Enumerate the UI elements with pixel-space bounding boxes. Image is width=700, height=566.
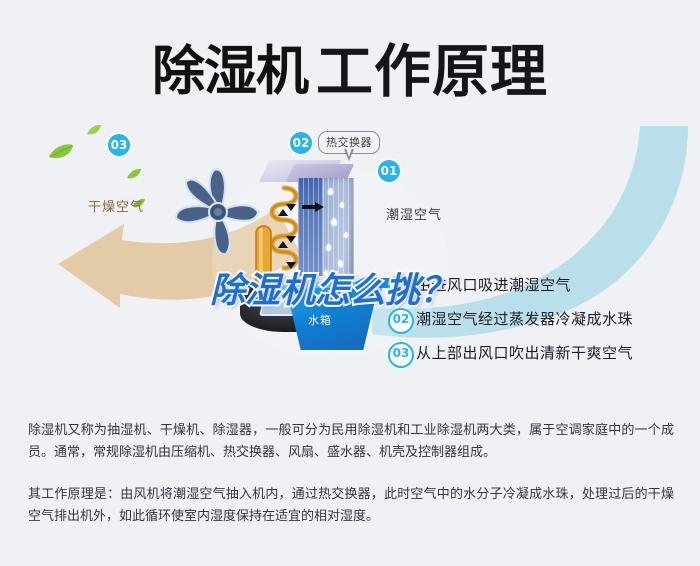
step-badge: 03 bbox=[388, 342, 414, 368]
water-droplet bbox=[331, 218, 337, 226]
page-title-part-2: 工作原理 bbox=[316, 39, 548, 105]
leaf-icon bbox=[86, 124, 102, 137]
page-title-part-1: 除湿机 bbox=[152, 42, 308, 101]
water-droplet bbox=[344, 232, 348, 238]
label-humid-air: 潮湿空气 bbox=[386, 204, 442, 223]
body-paragraph-1: 除湿机又称为抽湿机、干燥机、除湿器，一般可分为民用除湿机和工业除湿机两大类，属于… bbox=[28, 420, 674, 464]
list-item: 03 从上部出风口吹出清新干爽空气 bbox=[388, 340, 688, 374]
water-tank-label: 水箱 bbox=[308, 312, 332, 328]
water-droplet bbox=[328, 188, 333, 195]
callout-tail bbox=[344, 149, 354, 161]
water-droplet bbox=[340, 202, 344, 208]
page-title: 除湿机工作原理 bbox=[0, 26, 700, 98]
badge-01-humid-air: 01 bbox=[378, 160, 400, 182]
badge-03-dry-air: 03 bbox=[108, 134, 130, 156]
dehumidifier-unit: 水箱 bbox=[246, 160, 376, 350]
label-dry-air: 干燥空气 bbox=[88, 196, 144, 215]
body-paragraph-2: 其工作原理是：由风机将潮湿空气抽入机内，通过热交换器，此时空气中的水分子冷凝成水… bbox=[28, 484, 674, 528]
airflow-direction-arrow bbox=[302, 202, 324, 212]
leaf-icon bbox=[126, 168, 142, 181]
poster-root: 除湿机工作原理 bbox=[0, 0, 700, 566]
overlay-headline: 除湿机怎么挑？ bbox=[210, 262, 455, 313]
water-droplet bbox=[326, 244, 331, 251]
leaf-icon bbox=[48, 142, 74, 162]
step-text: 从上部出风口吹出清新干爽空气 bbox=[416, 340, 633, 366]
badge-02-heat-exchanger: 02 bbox=[290, 132, 312, 154]
